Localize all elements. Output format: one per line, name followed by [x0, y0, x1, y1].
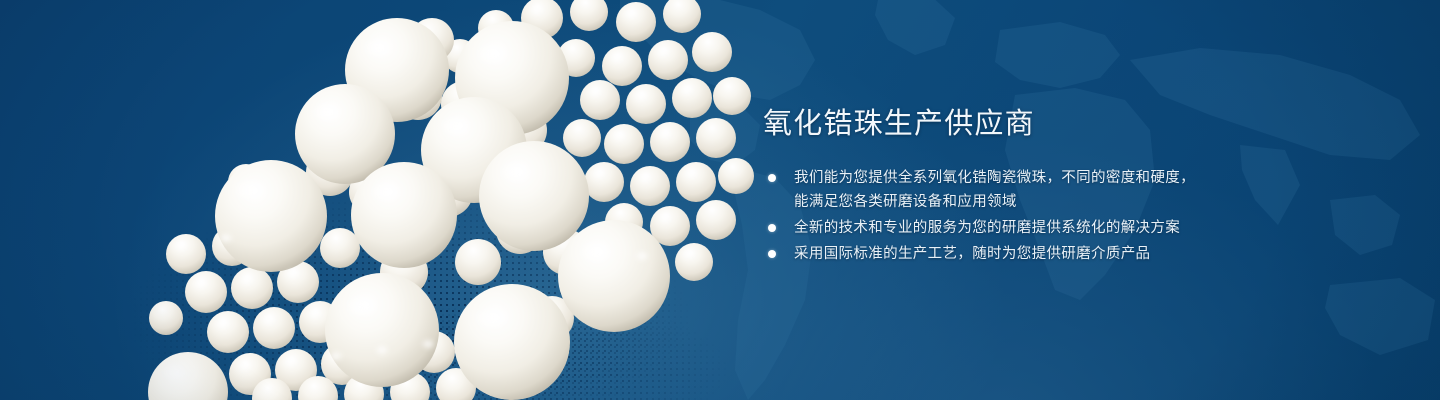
page-title: 氧化锆珠生产供应商	[763, 104, 1233, 144]
list-item: 全新的技术和专业的服务为您的研磨提供系统化的解决方案	[763, 216, 1233, 240]
list-item: 采用国际标准的生产工艺，随时为您提供研磨介质产品	[763, 242, 1233, 266]
bullet-dot-icon	[768, 174, 776, 182]
bullet-dot-icon	[768, 224, 776, 232]
feature-text-line: 采用国际标准的生产工艺，随时为您提供研磨介质产品	[794, 242, 1233, 266]
banner-copy: 氧化锆珠生产供应商 我们能为您提供全系列氧化锆陶瓷微珠，不同的密度和硬度， 能满…	[763, 104, 1233, 268]
bullet-dot-icon	[768, 250, 776, 258]
feature-list: 我们能为您提供全系列氧化锆陶瓷微珠，不同的密度和硬度， 能满足您各类研磨设备和应…	[763, 166, 1233, 266]
feature-text-line: 能满足您各类研磨设备和应用领域	[794, 190, 1233, 214]
list-item: 我们能为您提供全系列氧化锆陶瓷微珠，不同的密度和硬度， 能满足您各类研磨设备和应…	[763, 166, 1233, 214]
hero-banner: 氧化锆珠生产供应商 我们能为您提供全系列氧化锆陶瓷微珠，不同的密度和硬度， 能满…	[0, 0, 1440, 400]
feature-text-line: 我们能为您提供全系列氧化锆陶瓷微珠，不同的密度和硬度，	[794, 166, 1233, 190]
feature-text-line: 全新的技术和专业的服务为您的研磨提供系统化的解决方案	[794, 216, 1233, 240]
